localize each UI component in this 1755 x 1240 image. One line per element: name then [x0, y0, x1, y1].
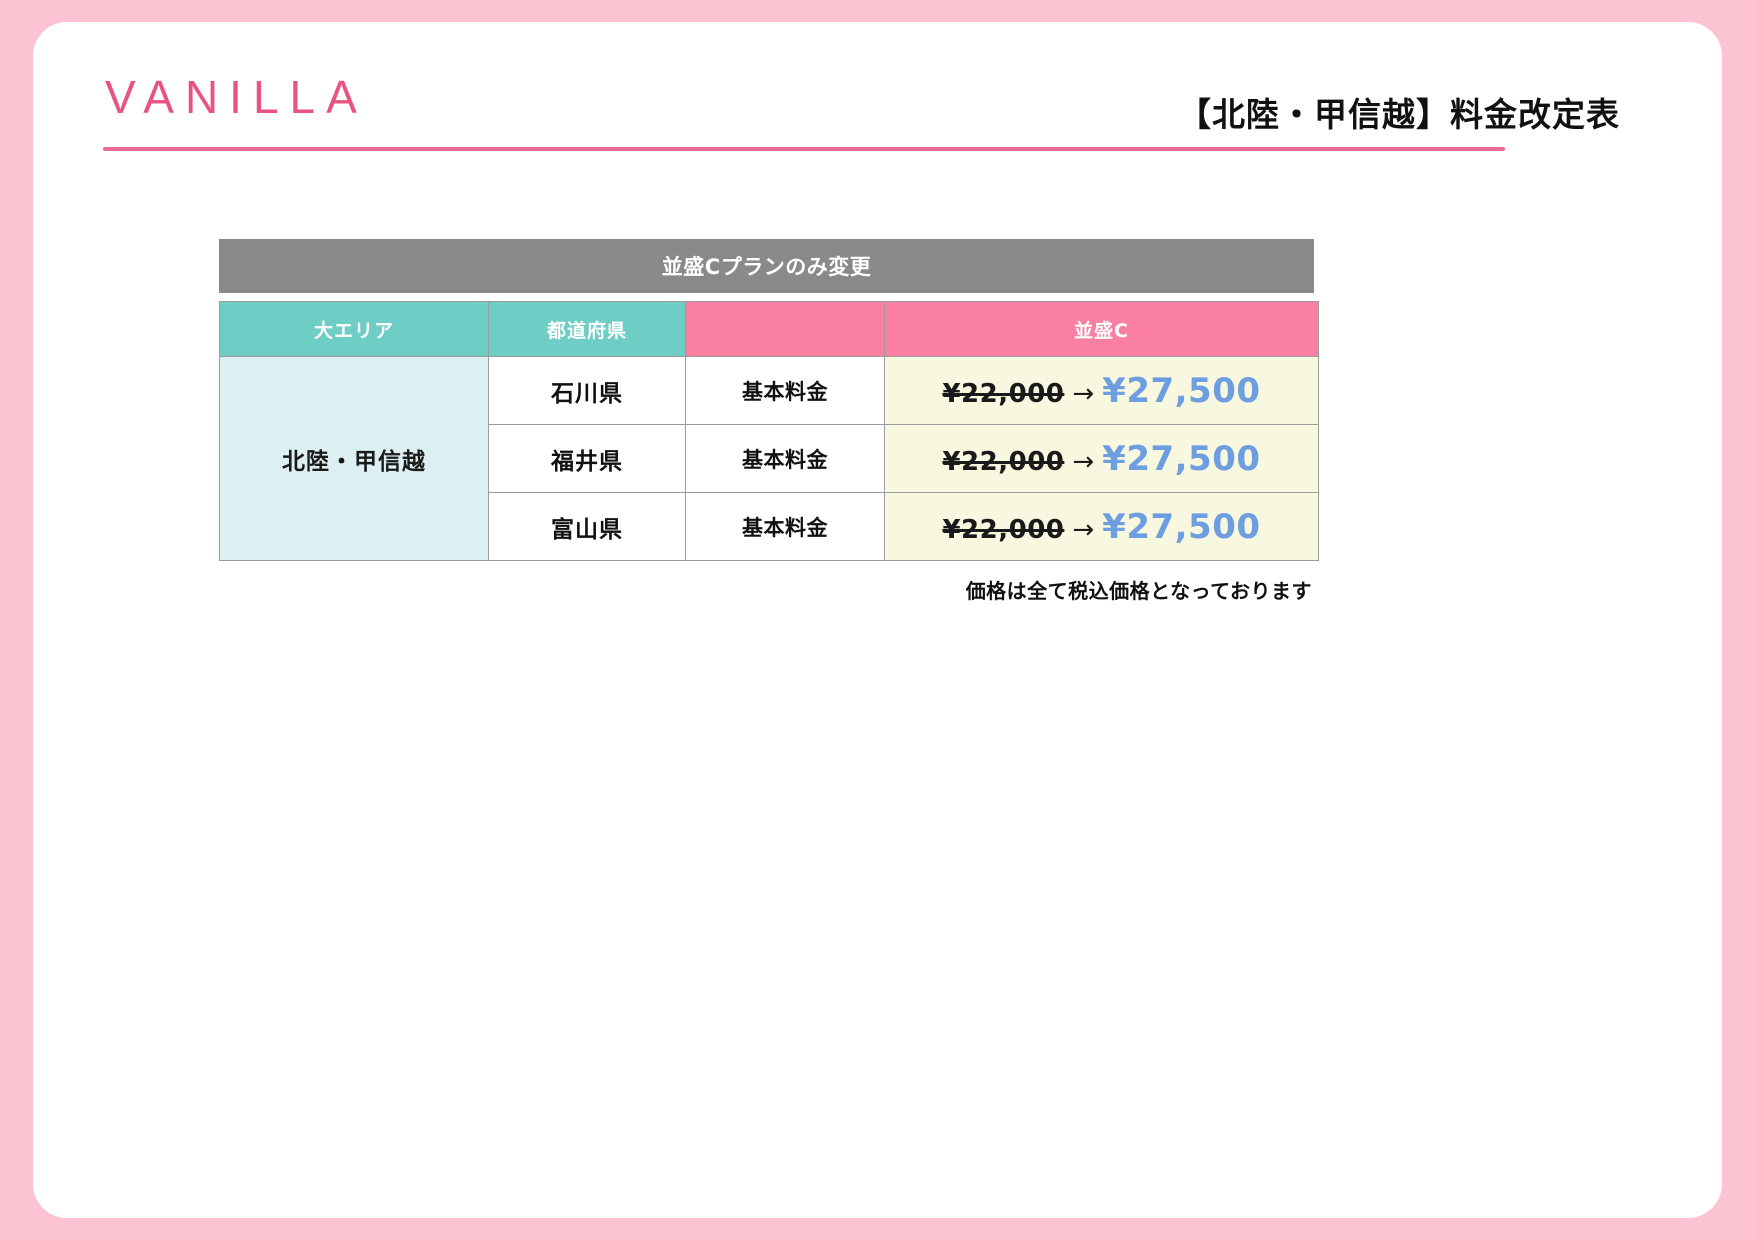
- header-divider: [103, 147, 1505, 151]
- new-price: ¥27,500: [1102, 507, 1260, 547]
- price-cell: ¥22,000→¥27,500: [885, 425, 1319, 493]
- item-cell: 基本料金: [686, 357, 885, 425]
- table-row: 北陸・甲信越 石川県 基本料金 ¥22,000→¥27,500: [220, 357, 1319, 425]
- old-price: ¥22,000: [942, 447, 1064, 477]
- new-price: ¥27,500: [1102, 439, 1260, 479]
- tax-note: 価格は全て税込価格となっております: [219, 575, 1314, 604]
- table-header-row: 大エリア 都道府県 並盛C: [220, 302, 1319, 357]
- old-price: ¥22,000: [942, 515, 1064, 545]
- area-cell: 北陸・甲信越: [220, 357, 489, 561]
- item-cell: 基本料金: [686, 493, 885, 561]
- price-cell: ¥22,000→¥27,500: [885, 357, 1319, 425]
- old-price: ¥22,000: [942, 379, 1064, 409]
- column-header-prefecture: 都道府県: [489, 302, 686, 357]
- page-card: VANILLA 【北陸・甲信越】料金改定表 並盛Cプランのみ変更 大エリア 都道…: [33, 22, 1722, 1218]
- prefecture-cell: 富山県: [489, 493, 686, 561]
- price-arrow-icon: →: [1064, 515, 1102, 545]
- prefecture-cell: 石川県: [489, 357, 686, 425]
- new-price: ¥27,500: [1102, 371, 1260, 411]
- item-cell: 基本料金: [686, 425, 885, 493]
- brand-logo: VANILLA: [105, 74, 368, 120]
- prefecture-cell: 福井県: [489, 425, 686, 493]
- price-arrow-icon: →: [1064, 379, 1102, 409]
- column-header-blank: [686, 302, 885, 357]
- rate-table: 大エリア 都道府県 並盛C 北陸・甲信越 石川県 基本料金 ¥22,000→¥2…: [219, 301, 1319, 561]
- column-header-area: 大エリア: [220, 302, 489, 357]
- column-header-plan: 並盛C: [885, 302, 1319, 357]
- page-title: 【北陸・甲信越】料金改定表: [1178, 88, 1620, 136]
- table-banner: 並盛Cプランのみ変更: [219, 239, 1314, 293]
- price-cell: ¥22,000→¥27,500: [885, 493, 1319, 561]
- page-header: VANILLA 【北陸・甲信越】料金改定表: [33, 22, 1722, 162]
- rate-table-container: 並盛Cプランのみ変更 大エリア 都道府県 並盛C 北陸・甲信越 石川県 基本料金…: [219, 239, 1314, 604]
- price-arrow-icon: →: [1064, 447, 1102, 477]
